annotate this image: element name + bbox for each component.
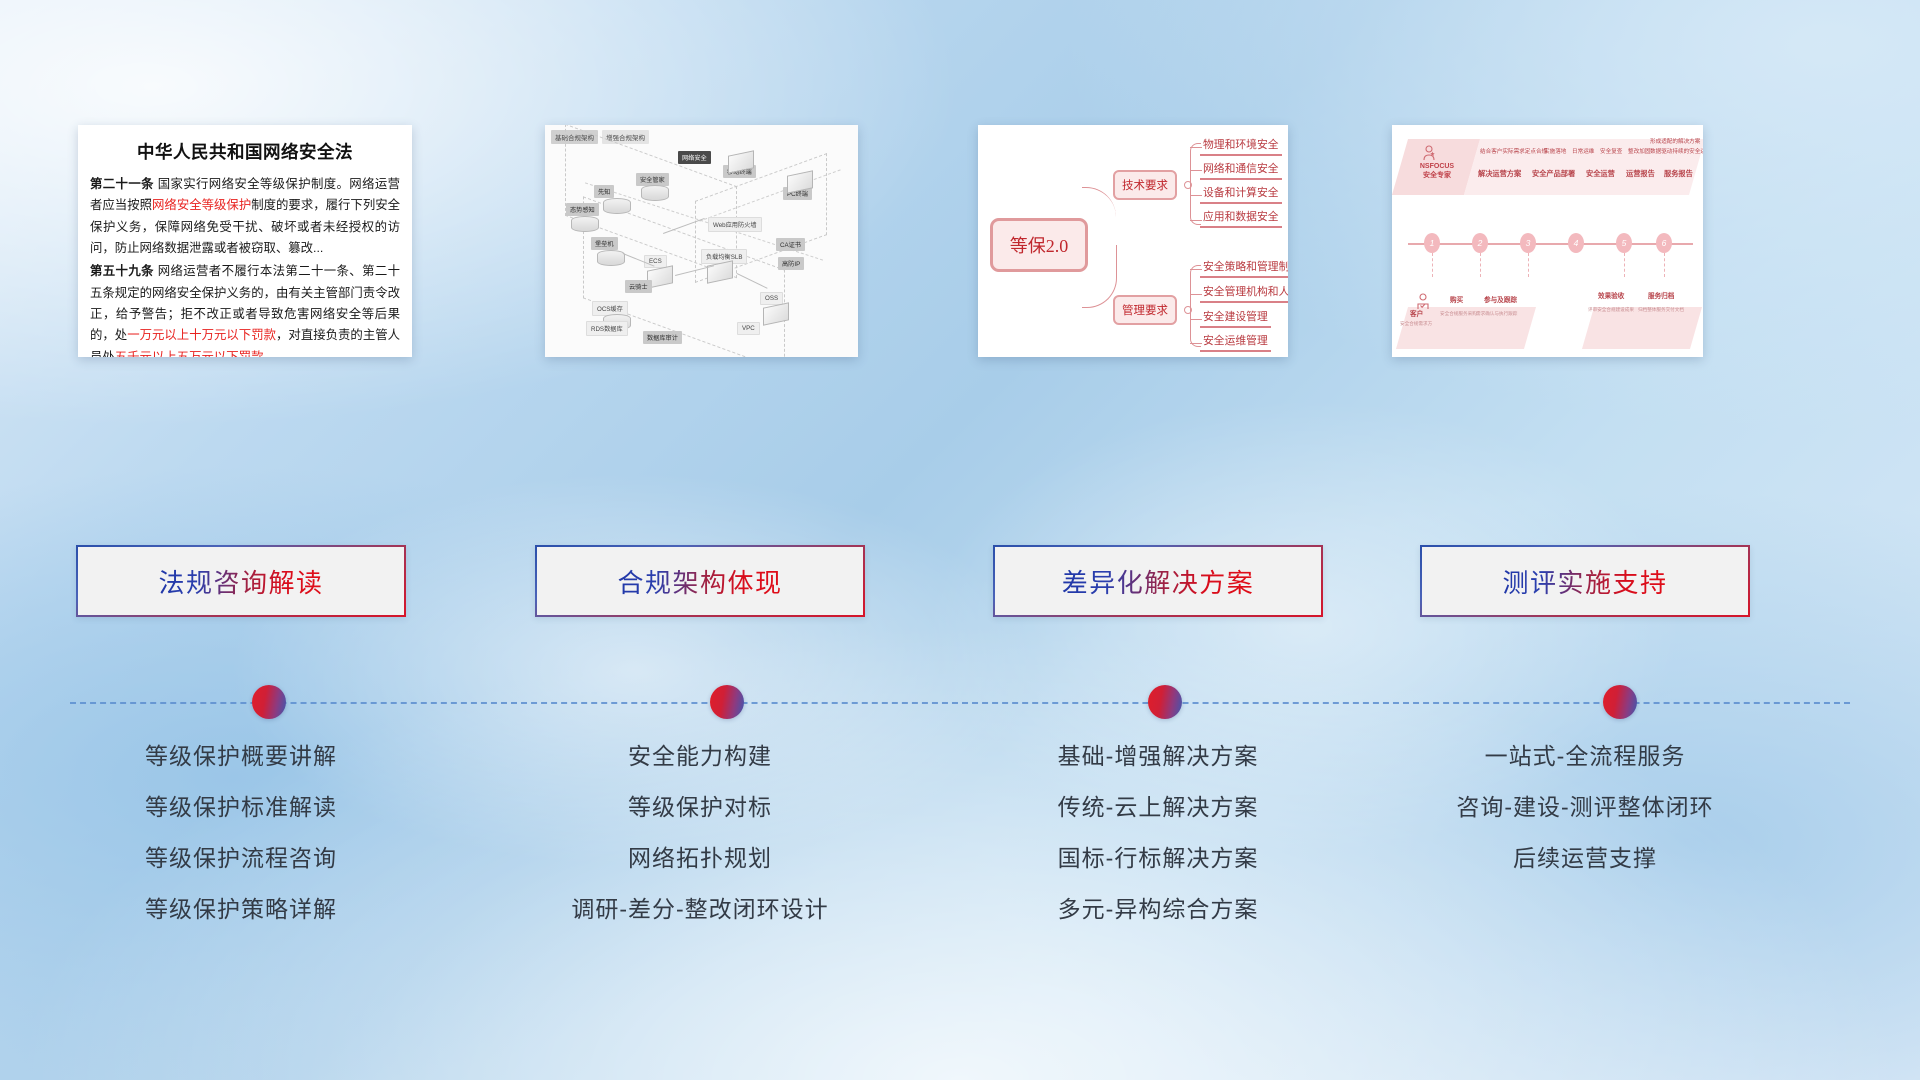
mindmap-branch-technical: 技术要求 (1113, 170, 1177, 200)
arch-node-ddos: 高防IP (778, 257, 804, 270)
nsf-foot-sub-4: 评审安全合规建设成果 (1588, 307, 1634, 313)
timeline-dot-4 (1603, 685, 1637, 719)
nsf-mid-label-2: 安全产品部署 (1532, 169, 1575, 179)
caption-item: 等级保护策略详解 (76, 898, 406, 921)
arch-node-security: 网络安全 (678, 151, 711, 164)
nsf-top-label-5: 整改加固 (1628, 147, 1650, 155)
mindmap-root: 等保2.0 (990, 218, 1088, 272)
nsf-timeline-axis (1408, 243, 1693, 245)
nsf-foot-sub-1: 安全合规需求方 (1400, 321, 1432, 327)
customer-person-icon (1416, 293, 1430, 310)
arch-chip-security: 网络安全 (678, 151, 711, 164)
caption-item: 多元-异构综合方案 (993, 898, 1323, 921)
nsf-mid-label-3: 安全运营 (1586, 169, 1615, 179)
arch-node-yunqishi: 云骑士 (625, 280, 652, 293)
card-architecture-diagram: 基础合规架构 增强合规架构 网络安全 安全管家 先知 态势 (545, 125, 858, 357)
arch-icon-bastion (597, 250, 625, 266)
section-label-text-2: 合规架构体现 (617, 563, 782, 600)
slide-stage: 中华人民共和国网络安全法 第二十一条 国家实行网络安全等级保护制度。网络运营者应… (0, 0, 1920, 1080)
nsf-foot-sub-3: 需求确认与执行跟踪 (1476, 311, 1517, 317)
article-59-highlight-1: 一万元以上十万元以下罚款 (127, 328, 276, 342)
caption-item: 基础-增强解决方案 (993, 745, 1323, 768)
arch-node-waf: Web应用防火墙 (708, 217, 762, 232)
nsf-step-3: 3 (1520, 233, 1536, 253)
nsf-brand-badge: NSFOCUS 安全专家 (1410, 163, 1464, 181)
nsf-top-label-6: 形成适配的解决方案 (1650, 137, 1700, 145)
architecture-diagram: 基础合规架构 增强合规架构 网络安全 安全管家 先知 态势 (545, 125, 858, 357)
section-label-text-1: 法规咨询解读 (158, 563, 323, 600)
caption-item: 咨询-建设-测评整体闭环 (1420, 796, 1750, 819)
nsf-mid-label-1: 解决运营方案 (1478, 169, 1521, 179)
nsfocus-service-flow: NSFOCUS 安全专家 结合客户实际需求定点合规 实施落地 日常运维 安全复查… (1392, 125, 1703, 357)
nsf-foot-title-3: 参与及跟踪 (1484, 297, 1517, 306)
arch-chip-bastion: 堡垒机 (591, 237, 618, 250)
caption-item: 调研-差分-整改闭环设计 (535, 898, 865, 921)
section-label-box-3[interactable]: 差异化解决方案 (993, 545, 1323, 617)
nsf-foot-sub-5: 归档整体服务交付文档 (1638, 307, 1684, 313)
caption-column-3: 基础-增强解决方案 传统-云上解决方案 国标-行标解决方案 多元-异构综合方案 (993, 745, 1323, 949)
nsf-foot-title-1: 客户 (1410, 311, 1423, 320)
mindmap-leaf-physical: 物理和环境安全 (1200, 135, 1282, 156)
card-mindmap: 等保2.0 技术要求 物理和环境安全 网络和通信安全 设备和计算安全 应用和数据… (978, 125, 1288, 357)
article-59-label: 第五十九条 (90, 264, 154, 278)
mindmap-leaf-app-data: 应用和数据安全 (1200, 207, 1282, 228)
mindmap-branch-management: 管理要求 (1113, 295, 1177, 325)
nsf-step-4: 4 (1568, 233, 1584, 253)
arch-chip-ecs: ECS (644, 255, 667, 268)
mindmap-leaf-network: 网络和通信安全 (1200, 159, 1282, 180)
section-label-text-4: 测评实施支持 (1502, 563, 1667, 600)
arch-node-ecs: ECS (644, 255, 667, 268)
nsf-tick-1 (1432, 253, 1433, 277)
card-nsfocus-timeline: NSFOCUS 安全专家 结合客户实际需求定点合规 实施落地 日常运维 安全复查… (1392, 125, 1703, 357)
mindmap-leaf-build: 安全建设管理 (1200, 307, 1271, 328)
arch-chip-ddos: 高防IP (778, 257, 804, 270)
nsf-foot-sub-2: 安全合规服务采购 (1440, 311, 1477, 317)
nsf-tick-3 (1528, 253, 1529, 277)
nsf-step-1: 1 (1424, 233, 1440, 253)
mindmap-leaf-policy: 安全策略和管理制度 (1200, 257, 1288, 278)
nsf-tick-2 (1480, 253, 1481, 277)
section-label-box-1[interactable]: 法规咨询解读 (76, 545, 406, 617)
nsf-foot-band-right (1582, 307, 1702, 349)
section-label-box-4[interactable]: 测评实施支持 (1420, 545, 1750, 617)
timeline-dot-1 (252, 685, 286, 719)
caption-column-4: 一站式-全流程服务 咨询-建设-测评整体闭环 后续运营支撑 (1420, 745, 1750, 898)
arch-chip-rds: RDS数据库 (586, 321, 628, 336)
nsf-tick-4 (1624, 253, 1625, 277)
arch-icon-situational (571, 216, 599, 232)
caption-item: 国标-行标解决方案 (993, 847, 1323, 870)
mindmap-curve-top (1082, 187, 1116, 244)
expert-person-icon (1422, 145, 1436, 161)
nsf-brand-sub: 安全专家 (1410, 172, 1464, 181)
caption-item: 安全能力构建 (535, 745, 865, 768)
caption-item: 后续运营支撑 (1420, 847, 1750, 870)
arch-chip-xianzhi: 先知 (594, 185, 614, 198)
article-59-highlight-2: 五千元以上五万元以下罚款。 (115, 350, 276, 357)
timeline-dot-2 (710, 685, 744, 719)
mindmap-curve-bottom (1082, 245, 1117, 308)
law-article-21: 第二十一条 国家实行网络安全等级保护制度。网络运营者应当按照网络安全等级保护制度… (90, 174, 400, 259)
law-article-59: 第五十九条 网络运营者不履行本法第二十一条、第二十五条规定的网络安全保护义务的，… (90, 261, 400, 357)
caption-item: 网络拓扑规划 (535, 847, 865, 870)
caption-column-2: 安全能力构建 等级保护对标 网络拓扑规划 调研-差分-整改闭环设计 (535, 745, 865, 949)
arch-chip-yunqishi: 云骑士 (625, 280, 652, 293)
arch-chip-db-audit: 数据库审计 (643, 331, 682, 344)
nsf-mid-label-5: 服务报告 (1664, 169, 1693, 179)
arch-chip-vpc: VPC (737, 322, 760, 335)
article-21-highlight: 网络安全等级保护 (152, 198, 251, 212)
arch-node-situational: 态势感知 (566, 203, 599, 216)
law-body: 第二十一条 国家实行网络安全等级保护制度。网络运营者应当按照网络安全等级保护制度… (90, 174, 400, 357)
arch-node-rds: RDS数据库 (586, 321, 628, 336)
caption-item: 一站式-全流程服务 (1420, 745, 1750, 768)
arch-chip-ca: CA证书 (776, 238, 805, 251)
nsf-foot-title-2: 购买 (1450, 297, 1463, 306)
section-label-text-3: 差异化解决方案 (1062, 563, 1255, 600)
arch-icon-oss (763, 302, 789, 326)
nsf-step-5: 5 (1616, 233, 1632, 253)
article-21-label: 第二十一条 (90, 177, 154, 191)
arch-node-ca: CA证书 (776, 238, 805, 251)
timeline-dashed-line (70, 702, 1850, 704)
arch-node-vpc: VPC (737, 322, 760, 335)
caption-item: 传统-云上解决方案 (993, 796, 1323, 819)
mindmap: 等保2.0 技术要求 物理和环境安全 网络和通信安全 设备和计算安全 应用和数据… (978, 125, 1288, 357)
law-document: 中华人民共和国网络安全法 第二十一条 国家实行网络安全等级保护制度。网络运营者应… (78, 125, 412, 357)
card-law-document: 中华人民共和国网络安全法 第二十一条 国家实行网络安全等级保护制度。网络运营者应… (78, 125, 412, 357)
nsf-top-label-7: 数据驱动持续的安全运营管理 (1650, 147, 1703, 155)
nsf-top-label-1: 结合客户实际需求定点合规 (1480, 147, 1547, 155)
nsf-tick-5 (1664, 253, 1665, 277)
mindmap-leaf-operations: 安全运维管理 (1200, 331, 1271, 352)
arch-icon-steward (641, 185, 669, 201)
arch-node-bastion: 堡垒机 (591, 237, 618, 250)
caption-column-1: 等级保护概要讲解 等级保护标准解读 等级保护流程咨询 等级保护策略详解 (76, 745, 406, 949)
caption-item: 等级保护标准解读 (76, 796, 406, 819)
timeline-dot-3 (1148, 685, 1182, 719)
arch-chip-situational: 态势感知 (566, 203, 599, 216)
arch-chip-waf: Web应用防火墙 (708, 217, 762, 232)
law-title: 中华人民共和国网络安全法 (90, 139, 400, 164)
nsf-top-label-3: 日常运维 (1572, 147, 1594, 155)
caption-item: 等级保护对标 (535, 796, 865, 819)
mindmap-leaf-org: 安全管理机构和人员 (1200, 282, 1288, 303)
nsf-mid-label-4: 运营报告 (1626, 169, 1655, 179)
nsf-top-label-2: 实施落地 (1544, 147, 1566, 155)
caption-item: 等级保护概要讲解 (76, 745, 406, 768)
arch-icon-xianzhi (603, 198, 631, 214)
arch-node-xianzhi: 先知 (594, 185, 614, 198)
mindmap-leaf-device: 设备和计算安全 (1200, 183, 1282, 204)
nsf-foot-title-5: 服务归档 (1648, 293, 1674, 302)
nsf-brand-name: NSFOCUS (1410, 163, 1464, 172)
nsf-step-6: 6 (1656, 233, 1672, 253)
arch-node-db-audit: 数据库审计 (643, 331, 682, 344)
caption-item: 等级保护流程咨询 (76, 847, 406, 870)
nsf-top-label-4: 安全复查 (1600, 147, 1622, 155)
nsf-step-2: 2 (1472, 233, 1488, 253)
section-label-box-2[interactable]: 合规架构体现 (535, 545, 865, 617)
nsf-foot-title-4: 效果验收 (1598, 293, 1624, 302)
